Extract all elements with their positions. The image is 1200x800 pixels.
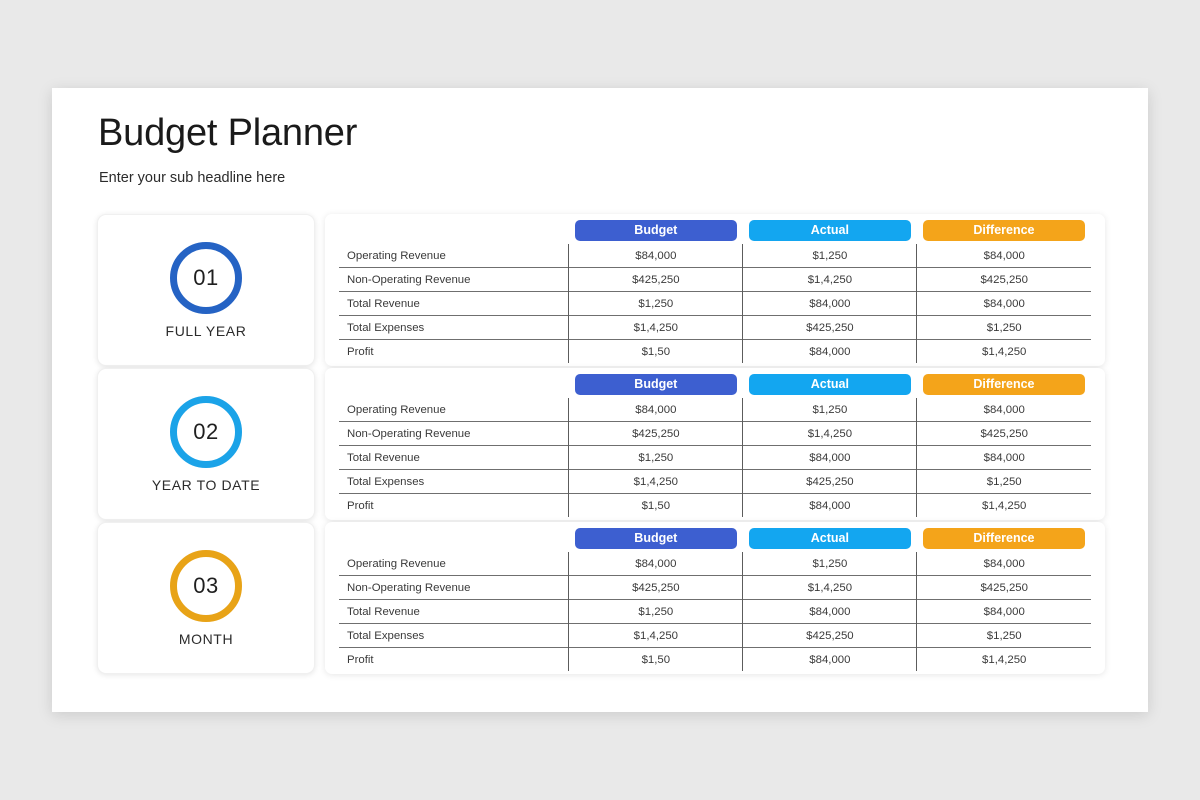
row-label: Profit <box>339 340 569 364</box>
table-row[interactable]: Total Revenue$1,250$84,000$84,000 <box>339 446 1091 470</box>
table-row[interactable]: Total Expenses$1,4,250$425,250$1,250 <box>339 624 1091 648</box>
column-header-actual[interactable]: Actual <box>743 528 917 552</box>
cell-difference: $1,4,250 <box>917 494 1091 518</box>
cell-difference: $84,000 <box>917 446 1091 470</box>
row-label: Operating Revenue <box>339 244 569 268</box>
budget-table-panel: BudgetActualDifferenceOperating Revenue$… <box>325 522 1105 674</box>
cell-actual: $425,250 <box>743 470 917 494</box>
cell-difference: $1,4,250 <box>917 648 1091 672</box>
budget-table-panel: BudgetActualDifferenceOperating Revenue$… <box>325 368 1105 520</box>
table-header-row: BudgetActualDifference <box>339 374 1091 398</box>
budget-table: BudgetActualDifferenceOperating Revenue$… <box>339 528 1091 671</box>
row-label: Operating Revenue <box>339 398 569 422</box>
cell-budget: $84,000 <box>569 398 743 422</box>
column-header-difference[interactable]: Difference <box>917 220 1091 244</box>
table-row[interactable]: Profit$1,50$84,000$1,4,250 <box>339 648 1091 672</box>
section-row: 01FULL YEARBudgetActualDifferenceOperati… <box>97 214 1105 366</box>
cell-actual: $1,4,250 <box>743 268 917 292</box>
cell-budget: $425,250 <box>569 268 743 292</box>
column-header-difference[interactable]: Difference <box>917 374 1091 398</box>
cell-budget: $1,4,250 <box>569 470 743 494</box>
table-row[interactable]: Total Expenses$1,4,250$425,250$1,250 <box>339 316 1091 340</box>
row-label: Non-Operating Revenue <box>339 268 569 292</box>
row-label: Total Revenue <box>339 600 569 624</box>
cell-actual: $84,000 <box>743 600 917 624</box>
column-header-difference[interactable]: Difference <box>917 528 1091 552</box>
slide: Budget Planner Enter your sub headline h… <box>52 88 1148 712</box>
ring-indicator-icon: 03 <box>170 550 242 622</box>
cell-actual: $84,000 <box>743 648 917 672</box>
cell-difference: $1,250 <box>917 470 1091 494</box>
column-header-pill-actual: Actual <box>749 374 911 395</box>
column-header-pill-actual: Actual <box>749 220 911 241</box>
row-label: Non-Operating Revenue <box>339 576 569 600</box>
table-row[interactable]: Non-Operating Revenue$425,250$1,4,250$42… <box>339 268 1091 292</box>
budget-table-panel: BudgetActualDifferenceOperating Revenue$… <box>325 214 1105 366</box>
header-spacer-cell <box>339 374 569 398</box>
section-card-02[interactable]: 02YEAR TO DATE <box>97 368 315 520</box>
cell-actual: $84,000 <box>743 292 917 316</box>
section-number: 02 <box>193 421 218 443</box>
cell-budget: $84,000 <box>569 244 743 268</box>
column-header-pill-budget: Budget <box>575 220 737 241</box>
cell-budget: $1,4,250 <box>569 624 743 648</box>
table-row[interactable]: Operating Revenue$84,000$1,250$84,000 <box>339 398 1091 422</box>
row-label: Profit <box>339 494 569 518</box>
header-spacer-cell <box>339 220 569 244</box>
row-label: Operating Revenue <box>339 552 569 576</box>
column-header-pill-difference: Difference <box>923 220 1085 241</box>
row-label: Total Revenue <box>339 292 569 316</box>
section-label: MONTH <box>179 631 233 647</box>
table-header-row: BudgetActualDifference <box>339 220 1091 244</box>
column-header-pill-budget: Budget <box>575 528 737 549</box>
budget-table: BudgetActualDifferenceOperating Revenue$… <box>339 374 1091 517</box>
cell-budget: $1,4,250 <box>569 316 743 340</box>
cell-actual: $84,000 <box>743 340 917 364</box>
cell-actual: $1,250 <box>743 398 917 422</box>
page-title: Budget Planner <box>98 112 357 155</box>
table-row[interactable]: Operating Revenue$84,000$1,250$84,000 <box>339 244 1091 268</box>
table-header-row: BudgetActualDifference <box>339 528 1091 552</box>
ring-indicator-icon: 02 <box>170 396 242 468</box>
cell-actual: $1,4,250 <box>743 576 917 600</box>
column-header-budget[interactable]: Budget <box>569 374 743 398</box>
cell-actual: $1,250 <box>743 244 917 268</box>
cell-difference: $84,000 <box>917 292 1091 316</box>
table-row[interactable]: Total Revenue$1,250$84,000$84,000 <box>339 600 1091 624</box>
column-header-pill-difference: Difference <box>923 528 1085 549</box>
cell-actual: $84,000 <box>743 494 917 518</box>
table-row[interactable]: Non-Operating Revenue$425,250$1,4,250$42… <box>339 576 1091 600</box>
section-number: 01 <box>193 267 218 289</box>
cell-budget: $1,250 <box>569 292 743 316</box>
table-row[interactable]: Operating Revenue$84,000$1,250$84,000 <box>339 552 1091 576</box>
cell-budget: $425,250 <box>569 422 743 446</box>
row-label: Total Expenses <box>339 470 569 494</box>
table-row[interactable]: Non-Operating Revenue$425,250$1,4,250$42… <box>339 422 1091 446</box>
cell-actual: $84,000 <box>743 446 917 470</box>
cell-actual: $1,4,250 <box>743 422 917 446</box>
section-label: YEAR TO DATE <box>152 477 260 493</box>
row-label: Total Expenses <box>339 316 569 340</box>
row-label: Non-Operating Revenue <box>339 422 569 446</box>
cell-budget: $425,250 <box>569 576 743 600</box>
row-label: Total Revenue <box>339 446 569 470</box>
section-row: 03MONTHBudgetActualDifferenceOperating R… <box>97 522 1105 674</box>
cell-actual: $425,250 <box>743 624 917 648</box>
cell-budget: $84,000 <box>569 552 743 576</box>
cell-budget: $1,50 <box>569 648 743 672</box>
cell-budget: $1,50 <box>569 340 743 364</box>
row-label: Total Expenses <box>339 624 569 648</box>
cell-difference: $84,000 <box>917 600 1091 624</box>
cell-difference: $84,000 <box>917 244 1091 268</box>
cell-difference: $84,000 <box>917 398 1091 422</box>
screenshot-canvas: Budget Planner Enter your sub headline h… <box>0 0 1200 800</box>
column-header-actual[interactable]: Actual <box>743 220 917 244</box>
table-row[interactable]: Profit$1,50$84,000$1,4,250 <box>339 340 1091 364</box>
section-label: FULL YEAR <box>166 323 247 339</box>
table-row[interactable]: Total Expenses$1,4,250$425,250$1,250 <box>339 470 1091 494</box>
table-row[interactable]: Profit$1,50$84,000$1,4,250 <box>339 494 1091 518</box>
section-row: 02YEAR TO DATEBudgetActualDifferenceOper… <box>97 368 1105 520</box>
column-header-budget[interactable]: Budget <box>569 528 743 552</box>
cell-difference: $84,000 <box>917 552 1091 576</box>
column-header-pill-difference: Difference <box>923 374 1085 395</box>
page-subtitle: Enter your sub headline here <box>99 170 285 186</box>
cell-budget: $1,250 <box>569 600 743 624</box>
section-number: 03 <box>193 575 218 597</box>
table-row[interactable]: Total Revenue$1,250$84,000$84,000 <box>339 292 1091 316</box>
cell-actual: $425,250 <box>743 316 917 340</box>
column-header-budget[interactable]: Budget <box>569 220 743 244</box>
section-card-03[interactable]: 03MONTH <box>97 522 315 674</box>
row-label: Profit <box>339 648 569 672</box>
cell-difference: $425,250 <box>917 268 1091 292</box>
cell-difference: $425,250 <box>917 576 1091 600</box>
section-card-01[interactable]: 01FULL YEAR <box>97 214 315 366</box>
column-header-pill-budget: Budget <box>575 374 737 395</box>
column-header-actual[interactable]: Actual <box>743 374 917 398</box>
cell-difference: $1,250 <box>917 316 1091 340</box>
cell-difference: $425,250 <box>917 422 1091 446</box>
cell-difference: $1,4,250 <box>917 340 1091 364</box>
budget-table: BudgetActualDifferenceOperating Revenue$… <box>339 220 1091 363</box>
cell-budget: $1,250 <box>569 446 743 470</box>
ring-indicator-icon: 01 <box>170 242 242 314</box>
cell-actual: $1,250 <box>743 552 917 576</box>
cell-difference: $1,250 <box>917 624 1091 648</box>
header-spacer-cell <box>339 528 569 552</box>
cell-budget: $1,50 <box>569 494 743 518</box>
column-header-pill-actual: Actual <box>749 528 911 549</box>
